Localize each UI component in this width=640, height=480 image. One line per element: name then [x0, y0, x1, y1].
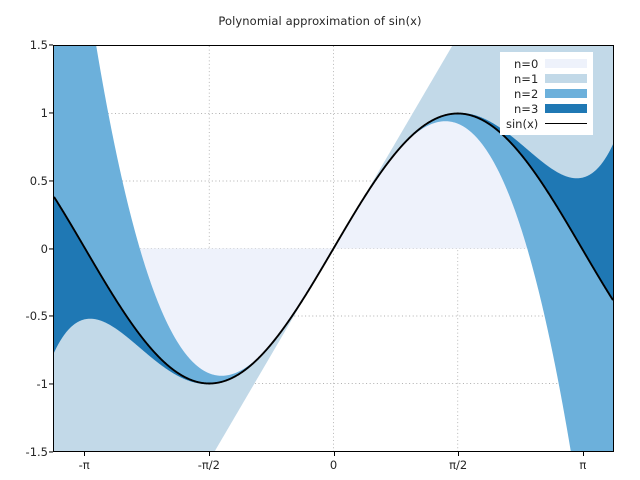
legend-line-glyph [545, 123, 587, 125]
x-tick-mark [334, 452, 335, 456]
y-tick-mark [49, 180, 53, 181]
legend-line-sample [545, 119, 587, 128]
chart-title: Polynomial approximation of sin(x) [0, 14, 640, 28]
x-tick-label: 0 [304, 458, 364, 472]
y-tick-label: -1.5 [4, 445, 48, 459]
legend-item[interactable]: n=2 [506, 86, 587, 101]
y-tick-label: 1 [4, 106, 48, 120]
x-tick-mark [458, 452, 459, 456]
y-tick-mark [49, 384, 53, 385]
y-tick-mark [49, 316, 53, 317]
x-tick-mark [583, 452, 584, 456]
x-tick-label: -π/2 [179, 458, 239, 472]
figure-canvas: Polynomial approximation of sin(x) 1.510… [0, 0, 640, 480]
y-tick-mark [49, 44, 53, 45]
legend-color-swatch [545, 74, 587, 83]
legend-item-label: n=2 [514, 87, 538, 101]
legend-item[interactable]: sin(x) [506, 116, 587, 131]
legend-color-swatch [545, 104, 587, 113]
legend: n=0n=1n=2n=3sin(x) [500, 52, 593, 135]
y-tick-label: -1 [4, 377, 48, 391]
x-tick-label: -π [54, 458, 114, 472]
legend-item-label: n=1 [514, 72, 538, 86]
legend-item[interactable]: n=1 [506, 71, 587, 86]
y-axis-tick-labels: 1.510.50-0.5-1-1.5 [0, 45, 48, 452]
x-tick-label: π/2 [428, 458, 488, 472]
x-tick-mark [209, 452, 210, 456]
x-tick-label: π [553, 458, 613, 472]
x-axis-tick-labels: -π-π/20π/2π [53, 458, 614, 478]
legend-item-label: sin(x) [506, 117, 538, 131]
y-tick-label: 0.5 [4, 174, 48, 188]
y-tick-mark [49, 112, 53, 113]
y-tick-mark [49, 248, 53, 249]
legend-color-swatch [545, 89, 587, 98]
y-tick-label: -0.5 [4, 309, 48, 323]
y-tick-mark [49, 451, 53, 452]
legend-item[interactable]: n=0 [506, 56, 587, 71]
x-tick-mark [84, 452, 85, 456]
y-tick-label: 1.5 [4, 38, 48, 52]
y-tick-label: 0 [4, 242, 48, 256]
legend-item-label: n=3 [514, 102, 538, 116]
legend-item-label: n=0 [514, 57, 538, 71]
legend-color-swatch [545, 59, 587, 68]
legend-item[interactable]: n=3 [506, 101, 587, 116]
